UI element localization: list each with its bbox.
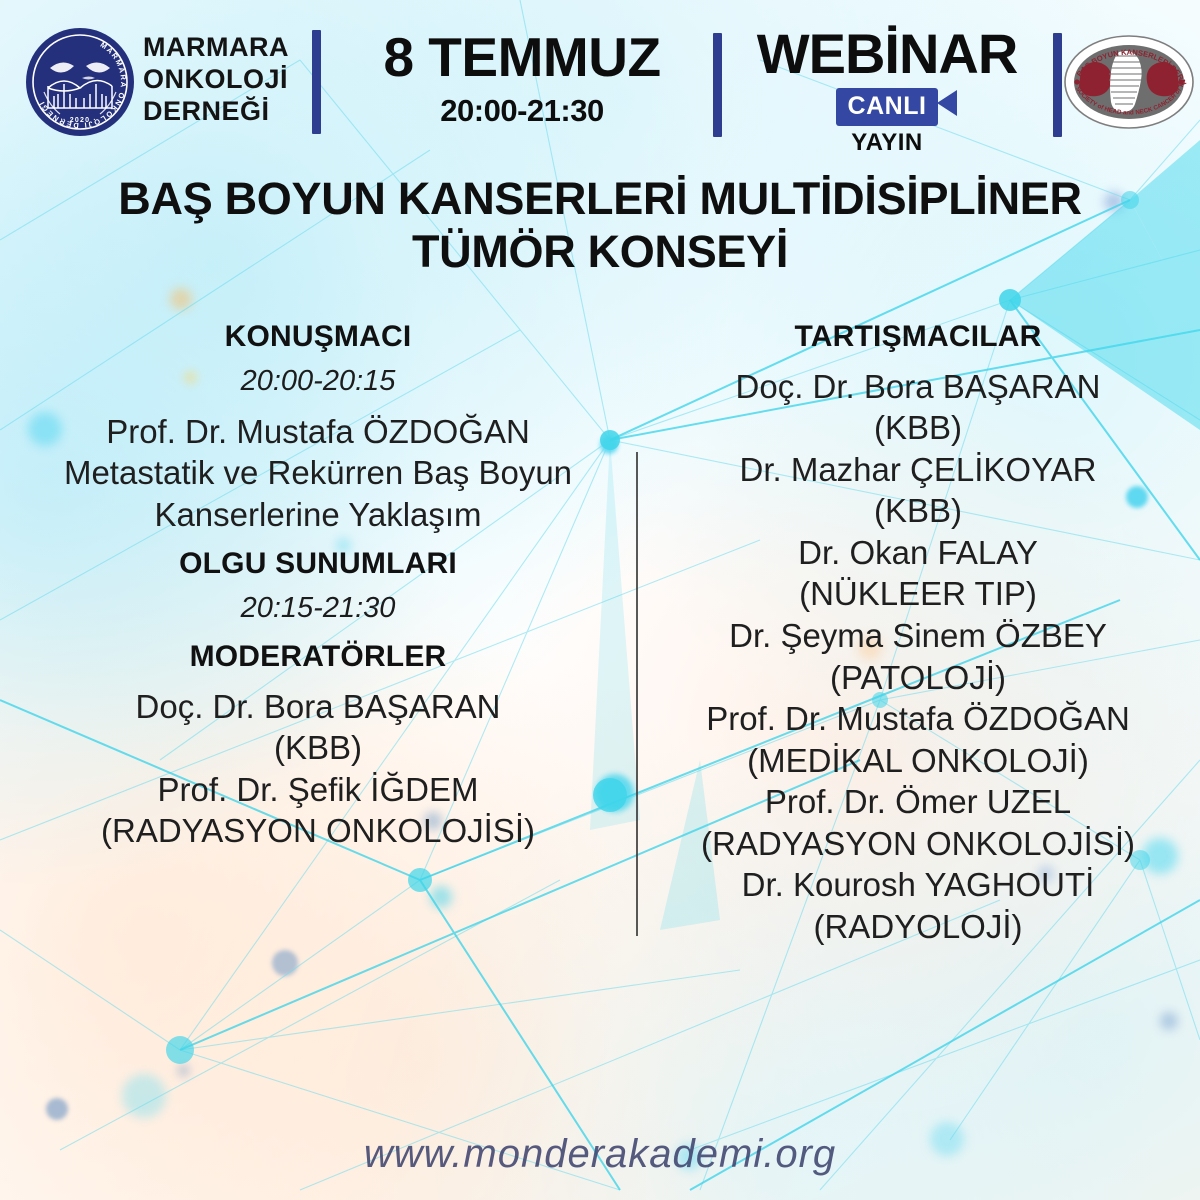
brand-line-1: MARMARA — [143, 32, 303, 64]
speaker-topic-line-2: Kanserlerine Yaklaşım — [18, 494, 618, 536]
page-title-line-1: BAŞ BOYUN KANSERLERİ MULTİDİSİPLİNER — [60, 172, 1140, 225]
event-time-range: 20:00-21:30 — [336, 95, 708, 126]
moderator-name: Prof. Dr. Şefik İĞDEM — [18, 769, 618, 811]
discussant-department: (PATOLOJİ) — [648, 657, 1188, 699]
video-camera-icon — [937, 90, 957, 116]
discussant-name: Dr. Kourosh YAGHOUTİ — [648, 864, 1188, 906]
list-item: Dr. Okan FALAY (NÜKLEER TIP) — [648, 532, 1188, 615]
moderator-department: (KBB) — [18, 727, 618, 769]
moderators-section-heading: MODERATÖRLER — [18, 638, 618, 676]
list-item: Dr. Şeyma Sinem ÖZBEY (PATOLOJİ) — [648, 615, 1188, 698]
speaker-topic-line-1: Metastatik ve Rekürren Baş Boyun — [18, 452, 618, 494]
discussant-name: Dr. Şeyma Sinem ÖZBEY — [648, 615, 1188, 657]
brand-name: MARMARA ONKOLOJİ DERNEĞİ — [143, 32, 303, 128]
webinar-label: WEBİNAR — [726, 26, 1048, 82]
discussants-section-heading: TARTIŞMACILAR — [648, 318, 1188, 356]
speaker-time: 20:00-20:15 — [18, 362, 618, 401]
discussant-department: (KBB) — [648, 407, 1188, 449]
live-broadcast-badge: CANLI — [726, 88, 1048, 126]
right-column: TARTIŞMACILAR Doç. Dr. Bora BAŞARAN (KBB… — [648, 318, 1188, 948]
discussant-department: (NÜKLEER TIP) — [648, 573, 1188, 615]
header-divider-bar-right — [1053, 33, 1062, 137]
list-item: Prof. Dr. Mustafa ÖZDOĞAN (MEDİKAL ONKOL… — [648, 698, 1188, 781]
left-column: KONUŞMACI 20:00-20:15 Prof. Dr. Mustafa … — [18, 318, 618, 852]
svg-text:· 2020 ·: · 2020 · — [63, 117, 97, 124]
list-item: Prof. Dr. Ömer UZEL (RADYASYON ONKOLOJİS… — [648, 781, 1188, 864]
discussant-department: (RADYOLOJİ) — [648, 906, 1188, 948]
cases-time: 20:15-21:30 — [18, 589, 618, 628]
moderators-list: Doç. Dr. Bora BAŞARAN (KBB) Prof. Dr. Şe… — [18, 686, 618, 852]
discussant-name: Prof. Dr. Mustafa ÖZDOĞAN — [648, 698, 1188, 740]
page-title-line-2: TÜMÖR KONSEYİ — [60, 225, 1140, 278]
list-item: Doç. Dr. Bora BAŞARAN (KBB) — [648, 366, 1188, 449]
date-block: 8 TEMMUZ 20:00-21:30 — [336, 30, 708, 126]
discussant-name: Dr. Okan FALAY — [648, 532, 1188, 574]
list-item: Doç. Dr. Bora BAŞARAN (KBB) — [18, 686, 618, 769]
live-pill: CANLI — [836, 88, 939, 126]
discussant-name: Doç. Dr. Bora BAŞARAN — [648, 366, 1188, 408]
header-divider-bar-middle — [713, 33, 722, 137]
brand-line-3: DERNEĞİ — [143, 96, 303, 128]
page-title: BAŞ BOYUN KANSERLERİ MULTİDİSİPLİNER TÜM… — [60, 172, 1140, 278]
discussant-name: Prof. Dr. Ömer UZEL — [648, 781, 1188, 823]
list-item: Dr. Kourosh YAGHOUTİ (RADYOLOJİ) — [648, 864, 1188, 947]
speaker-section-heading: KONUŞMACI — [18, 318, 618, 356]
brand-line-2: ONKOLOJİ — [143, 64, 303, 96]
website-url[interactable]: www.monderakademi.org — [0, 1132, 1200, 1177]
moderator-name: Doç. Dr. Bora BAŞARAN — [18, 686, 618, 728]
marmara-onkoloji-dernegi-logo: MARMARA ONKOLOJİ DERNEĞİ · 2020 · — [24, 26, 136, 138]
list-item: Prof. Dr. Şefik İĞDEM (RADYASYON ONKOLOJ… — [18, 769, 618, 852]
header-divider-bar-left — [312, 30, 321, 134]
moderator-department: (RADYASYON ONKOLOJİSİ) — [18, 810, 618, 852]
discussant-department: (RADYASYON ONKOLOJİSİ) — [648, 823, 1188, 865]
webinar-poster: MARMARA ONKOLOJİ DERNEĞİ · 2020 · MARMAR… — [0, 0, 1200, 1200]
bas-boyun-kanserleri-dernegi-logo: BAŞ BOYUN KANSERLERİ DERNEĞİ SOCIETY of … — [1063, 30, 1195, 134]
discussant-name: Dr. Mazhar ÇELİKOYAR — [648, 449, 1188, 491]
discussants-list: Doç. Dr. Bora BAŞARAN (KBB) Dr. Mazhar Ç… — [648, 366, 1188, 948]
poster-header: MARMARA ONKOLOJİ DERNEĞİ · 2020 · MARMAR… — [0, 0, 1200, 152]
live-label: CANLI — [848, 92, 927, 120]
cases-section-heading: OLGU SUNUMLARI — [18, 545, 618, 583]
column-divider — [636, 452, 638, 936]
live-sub-label: YAYIN — [726, 129, 1048, 157]
discussant-department: (KBB) — [648, 490, 1188, 532]
discussant-department: (MEDİKAL ONKOLOJİ) — [648, 740, 1188, 782]
webinar-block: WEBİNAR CANLI YAYIN — [726, 26, 1048, 157]
list-item: Dr. Mazhar ÇELİKOYAR (KBB) — [648, 449, 1188, 532]
event-date: 8 TEMMUZ — [336, 30, 708, 85]
speaker-name: Prof. Dr. Mustafa ÖZDOĞAN — [18, 411, 618, 453]
